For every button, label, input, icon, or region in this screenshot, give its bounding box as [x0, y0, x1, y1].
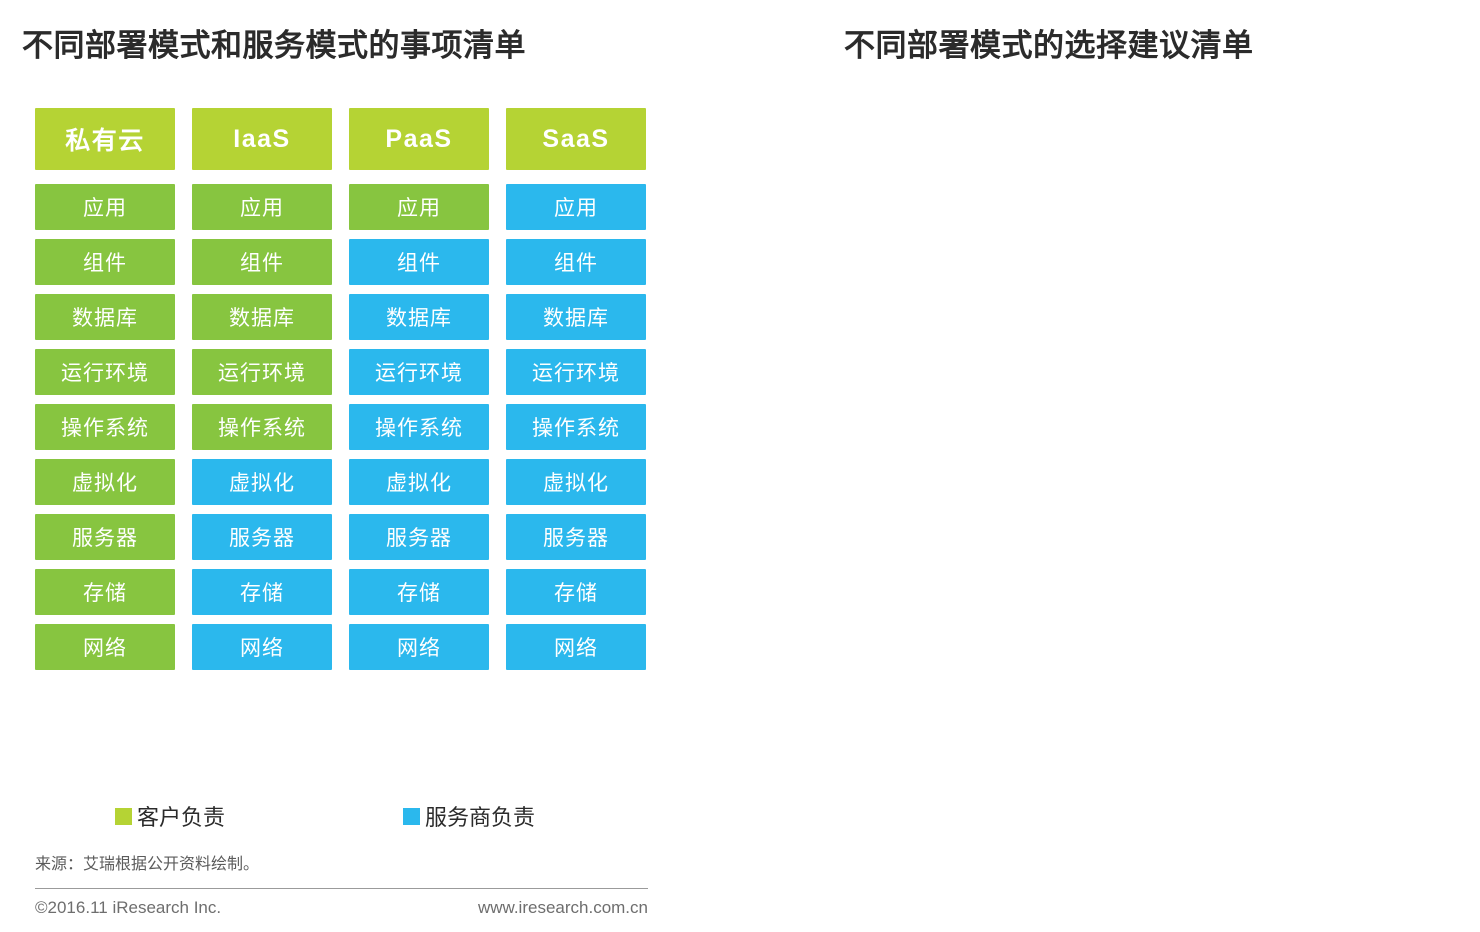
- matrix-cell: 操作系统: [35, 404, 175, 450]
- legend-swatch-icon: [115, 808, 132, 825]
- matrix-column-header: 私有云: [35, 108, 175, 170]
- matrix-body: 应用应用应用应用组件组件组件组件数据库数据库数据库数据库运行环境运行环境运行环境…: [35, 184, 648, 670]
- infographic-page: 不同部署模式和服务模式的事项清单 私有云IaaSPaaSSaaS 应用应用应用应…: [0, 0, 1480, 932]
- matrix-cell: 网络: [506, 624, 646, 670]
- matrix-row: 存储存储存储存储: [35, 569, 648, 615]
- matrix-row: 运行环境运行环境运行环境运行环境: [35, 349, 648, 395]
- matrix-cell: 应用: [506, 184, 646, 230]
- matrix-row: 操作系统操作系统操作系统操作系统: [35, 404, 648, 450]
- matrix-cell: 虚拟化: [349, 459, 489, 505]
- matrix-cell: 应用: [35, 184, 175, 230]
- legend-item: 客户负责: [115, 800, 225, 832]
- matrix-cell: 操作系统: [192, 404, 332, 450]
- matrix-cell: 运行环境: [35, 349, 175, 395]
- matrix-cell: 虚拟化: [506, 459, 646, 505]
- left-footer-divider: [35, 888, 648, 889]
- matrix-cell: 应用: [192, 184, 332, 230]
- legend-label: 客户负责: [137, 800, 225, 832]
- left-copyright: ©2016.11 iResearch Inc.: [35, 898, 221, 918]
- matrix-cell: 网络: [192, 624, 332, 670]
- matrix-cell: 存储: [349, 569, 489, 615]
- matrix-cell: 组件: [349, 239, 489, 285]
- matrix-cell: 存储: [506, 569, 646, 615]
- matrix-cell: 运行环境: [506, 349, 646, 395]
- legend: 客户负责服务商负责: [35, 800, 648, 826]
- matrix-cell: 操作系统: [349, 404, 489, 450]
- matrix-cell: 数据库: [349, 294, 489, 340]
- matrix-cell: 操作系统: [506, 404, 646, 450]
- matrix-cell: 数据库: [192, 294, 332, 340]
- responsibility-matrix: 私有云IaaSPaaSSaaS 应用应用应用应用组件组件组件组件数据库数据库数据…: [35, 108, 648, 670]
- matrix-cell: 服务器: [35, 514, 175, 560]
- legend-swatch-icon: [403, 808, 420, 825]
- matrix-cell: 网络: [35, 624, 175, 670]
- right-panel: 不同部署模式的选择建议清单 参考项 建议 政策如果政策对上公有云有限制或态度不明…: [740, 0, 1480, 932]
- legend-label: 服务商负责: [425, 800, 535, 832]
- matrix-cell: 组件: [192, 239, 332, 285]
- matrix-cell: 运行环境: [192, 349, 332, 395]
- matrix-cell: 组件: [35, 239, 175, 285]
- matrix-cell: 服务器: [349, 514, 489, 560]
- matrix-cell: 存储: [35, 569, 175, 615]
- left-footer: ©2016.11 iResearch Inc. www.iresearch.co…: [35, 898, 648, 918]
- matrix-cell: 虚拟化: [35, 459, 175, 505]
- matrix-cell: 数据库: [35, 294, 175, 340]
- matrix-header-row: 私有云IaaSPaaSSaaS: [35, 108, 648, 170]
- matrix-cell: 网络: [349, 624, 489, 670]
- matrix-cell: 存储: [192, 569, 332, 615]
- matrix-column-header: SaaS: [506, 108, 646, 170]
- matrix-row: 组件组件组件组件: [35, 239, 648, 285]
- matrix-row: 虚拟化虚拟化虚拟化虚拟化: [35, 459, 648, 505]
- matrix-row: 网络网络网络网络: [35, 624, 648, 670]
- left-website[interactable]: www.iresearch.com.cn: [478, 898, 648, 918]
- matrix-cell: 虚拟化: [192, 459, 332, 505]
- matrix-column-header: IaaS: [192, 108, 332, 170]
- left-panel: 不同部署模式和服务模式的事项清单 私有云IaaSPaaSSaaS 应用应用应用应…: [0, 0, 740, 932]
- right-panel-title: 不同部署模式的选择建议清单: [844, 20, 1254, 65]
- matrix-cell: 应用: [349, 184, 489, 230]
- left-panel-title: 不同部署模式和服务模式的事项清单: [22, 20, 526, 65]
- matrix-row: 服务器服务器服务器服务器: [35, 514, 648, 560]
- left-source-note: 来源：艾瑞根据公开资料绘制。: [35, 852, 259, 878]
- matrix-cell: 数据库: [506, 294, 646, 340]
- matrix-cell: 运行环境: [349, 349, 489, 395]
- matrix-row: 应用应用应用应用: [35, 184, 648, 230]
- matrix-cell: 组件: [506, 239, 646, 285]
- legend-item: 服务商负责: [403, 800, 535, 832]
- matrix-cell: 服务器: [506, 514, 646, 560]
- matrix-column-header: PaaS: [349, 108, 489, 170]
- matrix-row: 数据库数据库数据库数据库: [35, 294, 648, 340]
- matrix-cell: 服务器: [192, 514, 332, 560]
